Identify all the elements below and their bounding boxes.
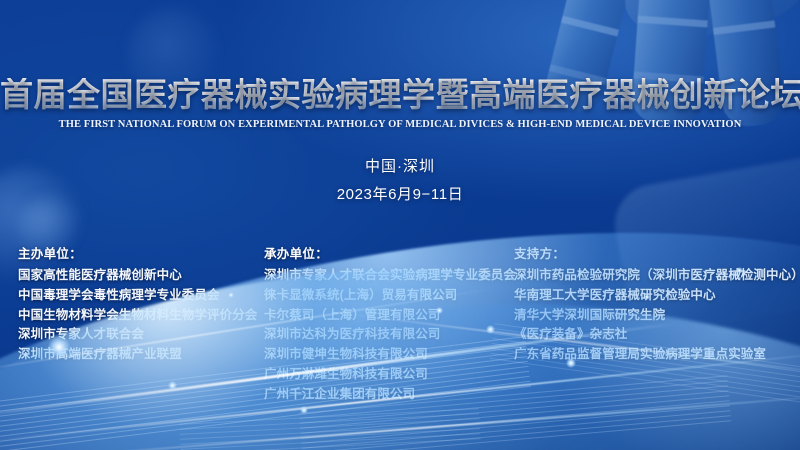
light-spark	[48, 336, 70, 358]
light-spark	[736, 267, 743, 274]
poster-meta-block: 中国·深圳 2023年6月9−11日	[0, 155, 800, 204]
event-date: 2023年6月9−11日	[0, 183, 800, 204]
light-spark	[168, 381, 177, 390]
light-spark	[566, 358, 576, 368]
poster-title-english: THE FIRST NATIONAL FORUM ON EXPERIMENTAL…	[0, 119, 800, 130]
light-spark	[486, 325, 495, 334]
light-ribbon-icon	[0, 260, 800, 450]
light-spark	[300, 406, 308, 414]
lens-ring	[713, 20, 775, 35]
lens-ring	[637, 16, 707, 28]
poster-title-chinese: 首届全国医疗器械实验病理学暨高端医疗器械创新论坛	[0, 78, 800, 113]
light-spark	[644, 294, 650, 300]
light-spark	[228, 292, 234, 298]
microscope-objective-icon	[520, 0, 800, 260]
lens-ring	[561, 16, 619, 37]
event-location: 中国·深圳	[0, 155, 800, 176]
conference-poster: 首届全国医疗器械实验病理学暨高端医疗器械创新论坛 THE FIRST NATIO…	[0, 0, 800, 450]
light-spark	[436, 307, 443, 314]
poster-title-block: 首届全国医疗器械实验病理学暨高端医疗器械创新论坛 THE FIRST NATIO…	[0, 78, 800, 130]
